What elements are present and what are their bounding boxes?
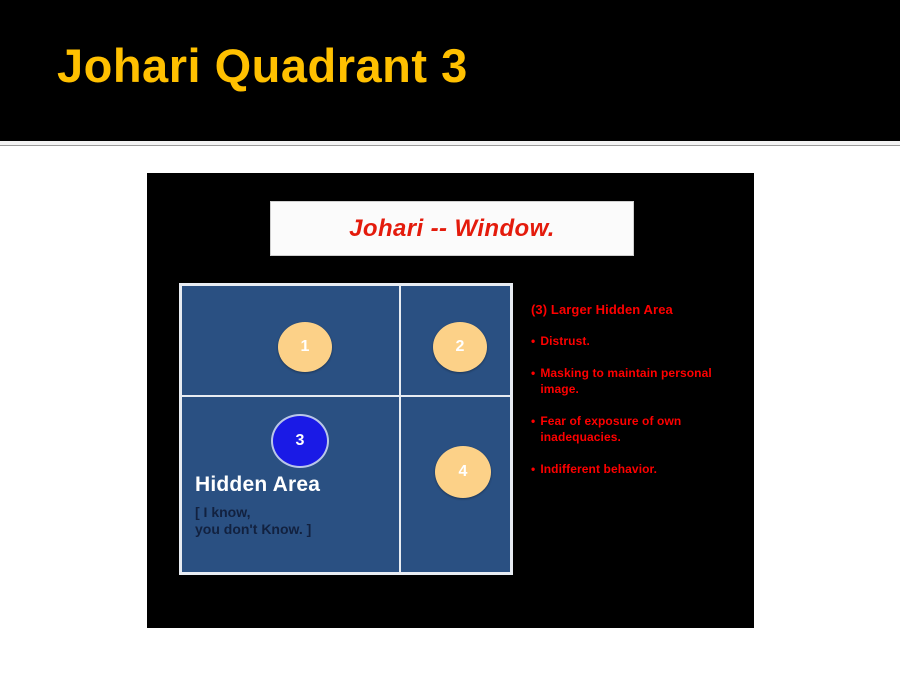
- quadrant-marker-2: 2: [433, 322, 487, 372]
- header-divider: [0, 141, 900, 149]
- johari-quadrant-grid: 1 2 3 4 Hidden Area [ I know, you don't …: [179, 283, 513, 575]
- bullet-icon: •: [531, 461, 535, 477]
- note-item-1-line1: Distrust.: [540, 333, 590, 349]
- johari-caption-text: Johari -- Window.: [349, 215, 555, 243]
- notes-heading: (3) Larger Hidden Area: [531, 302, 741, 317]
- grid-divider-vertical: [399, 286, 401, 572]
- note-item-2: • Masking to maintain personal image.: [531, 365, 741, 397]
- note-item-4-line1: Indifferent behavior.: [540, 461, 657, 477]
- bullet-icon: •: [531, 365, 535, 397]
- notes-block: (3) Larger Hidden Area • Distrust. • Mas…: [531, 302, 741, 477]
- johari-caption-box: Johari -- Window.: [270, 201, 634, 256]
- bullet-icon: •: [531, 413, 535, 445]
- note-item-4: • Indifferent behavior.: [531, 461, 741, 477]
- note-item-3-line1: Fear of exposure of: [540, 414, 653, 428]
- page-title: Johari Quadrant 3: [57, 40, 468, 92]
- hidden-area-sublabel: [ I know, you don't Know. ]: [195, 504, 311, 538]
- note-item-3-lines: Fear of exposure of own inadequacies.: [540, 413, 741, 445]
- hidden-area-label: Hidden Area: [195, 473, 320, 497]
- note-item-2-lines: Masking to maintain personal image.: [540, 365, 741, 397]
- note-item-2-line1: Masking to maintain: [540, 366, 657, 380]
- grid-divider-horizontal: [182, 395, 510, 397]
- quadrant-marker-3: 3: [271, 414, 329, 468]
- note-item-1: • Distrust.: [531, 333, 741, 349]
- bullet-icon: •: [531, 333, 535, 349]
- quadrant-marker-4: 4: [435, 446, 491, 498]
- slide-canvas: Johari Quadrant 3 Johari -- Window. 1 2 …: [0, 0, 900, 675]
- johari-window-image: Johari -- Window. 1 2 3 4 Hidden Area [ …: [147, 173, 754, 628]
- quadrant-marker-1: 1: [278, 322, 332, 372]
- note-item-3: • Fear of exposure of own inadequacies.: [531, 413, 741, 445]
